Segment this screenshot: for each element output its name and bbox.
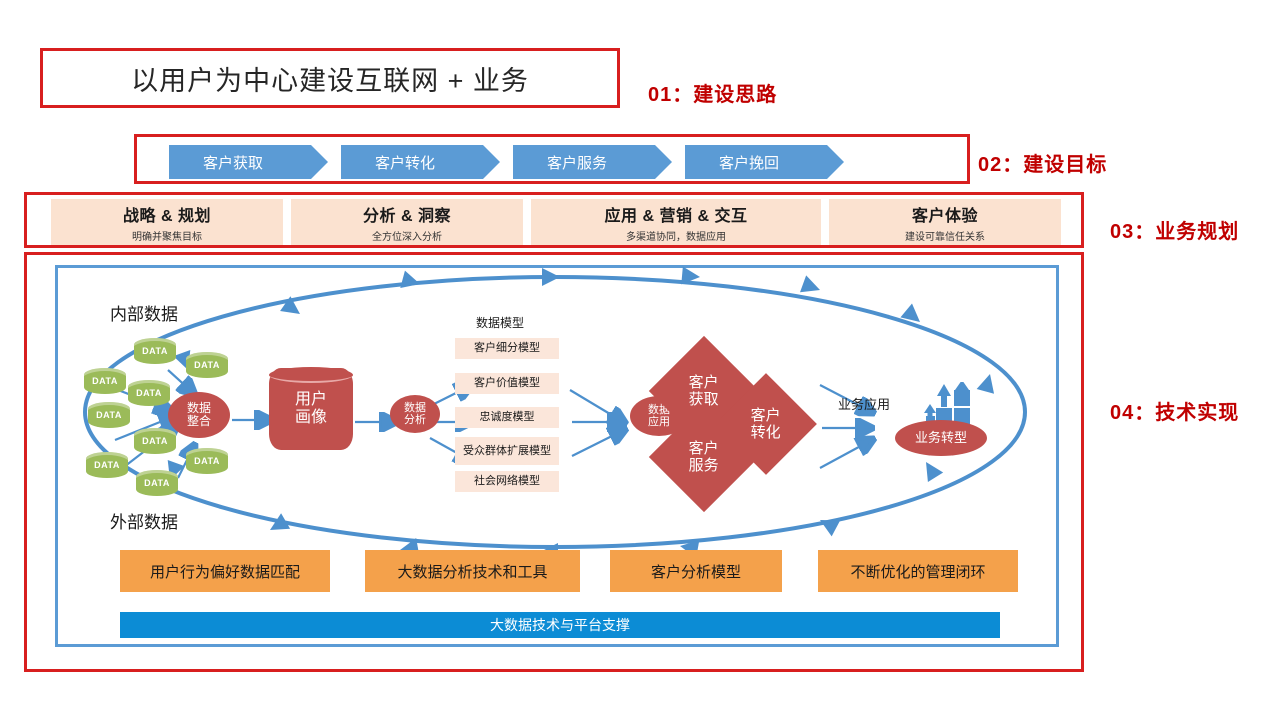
step-label-02: 02：建设目标 — [978, 148, 1107, 177]
chevron-item[interactable]: 客户服务 — [513, 145, 655, 179]
plan-sub: 明确并聚焦目标 — [132, 228, 202, 243]
model-item[interactable]: 客户价值模型 — [455, 373, 559, 394]
main-title-box: 以用户为中心建设互联网 + 业务 — [40, 48, 620, 108]
data-node-icon: DATA — [186, 352, 228, 378]
goal-label-3: 客户服务 — [513, 145, 655, 179]
data-node-icon: DATA — [86, 452, 128, 478]
business-plan-strip: 战略 & 规划 明确并聚焦目标 分析 & 洞察 全方位深入分析 应用 & 营销 … — [24, 192, 1084, 248]
business-application-label: 业务应用 — [838, 394, 890, 413]
plan-heading: 分析 & 洞察 — [363, 202, 451, 226]
plan-cell[interactable]: 战略 & 规划 明确并聚焦目标 — [51, 199, 283, 245]
data-integration-label: 数据 整合 — [187, 402, 211, 428]
plan-cell[interactable]: 分析 & 洞察 全方位深入分析 — [291, 199, 523, 245]
platform-support-bar: 大数据技术与平台支撑 — [120, 612, 1000, 638]
slide-canvas: 以用户为中心建设互联网 + 业务 01：建设思路 客户获取 客户转化 客户服务 … — [0, 0, 1280, 720]
internal-data-label: 内部数据 — [110, 300, 178, 325]
step-label-04: 04：技术实现 — [1110, 396, 1239, 425]
model-item[interactable]: 客户细分模型 — [455, 338, 559, 359]
diamond-label: 客户 服务 — [689, 440, 719, 473]
data-node-icon: DATA — [128, 380, 170, 406]
foundation-box[interactable]: 不断优化的管理闭环 — [818, 550, 1018, 592]
models-heading: 数据模型 — [476, 314, 524, 331]
data-analysis-node: 数据 分析 — [390, 395, 440, 433]
model-item[interactable]: 受众群体扩展模型 — [455, 437, 559, 465]
page-title: 以用户为中心建设互联网 + 业务 — [131, 59, 529, 98]
diamond-label: 客户 转化 — [751, 407, 781, 440]
model-item[interactable]: 忠诚度模型 — [455, 407, 559, 428]
step-label-03: 03：业务规划 — [1110, 215, 1239, 244]
chevron-item[interactable]: 客户挽回 — [685, 145, 827, 179]
plan-heading: 战略 & 规划 — [123, 202, 211, 226]
data-node-icon: DATA — [136, 470, 178, 496]
plan-cell[interactable]: 应用 & 营销 & 交互 多渠道协同，数据应用 — [531, 199, 821, 245]
user-portrait-label: 用户 画像 — [295, 391, 327, 428]
chevron-item[interactable]: 客户获取 — [169, 145, 311, 179]
plan-cell[interactable]: 客户体验 建设可靠信任关系 — [829, 199, 1061, 245]
data-node-icon: DATA — [88, 402, 130, 428]
plan-heading: 客户体验 — [912, 202, 978, 226]
user-portrait-node: 用户 画像 — [269, 368, 353, 450]
goal-label-1: 客户获取 — [169, 145, 311, 179]
business-transformation-node: 业务转型 — [895, 420, 987, 456]
foundation-box[interactable]: 用户行为偏好数据匹配 — [120, 550, 330, 592]
plan-sub: 全方位深入分析 — [372, 228, 442, 243]
business-transformation-label: 业务转型 — [915, 431, 967, 445]
goal-label-2: 客户转化 — [341, 145, 483, 179]
chevron-item[interactable]: 客户转化 — [341, 145, 483, 179]
model-item[interactable]: 社会网络模型 — [455, 471, 559, 492]
plan-sub: 多渠道协同，数据应用 — [626, 228, 726, 243]
data-node-icon: DATA — [134, 428, 176, 454]
external-data-label: 外部数据 — [110, 508, 178, 533]
data-analysis-label: 数据 分析 — [404, 402, 426, 426]
data-node-icon: DATA — [84, 368, 126, 394]
plan-heading: 应用 & 营销 & 交互 — [605, 202, 748, 226]
foundation-box[interactable]: 客户分析模型 — [610, 550, 782, 592]
plan-sub: 建设可靠信任关系 — [905, 228, 985, 243]
data-node-icon: DATA — [186, 448, 228, 474]
goal-chevron-box: 客户获取 客户转化 客户服务 客户挽回 — [134, 134, 970, 184]
step-label-01: 01：建设思路 — [648, 78, 777, 107]
data-integration-node: 数据 整合 — [168, 392, 230, 438]
data-node-icon: DATA — [134, 338, 176, 364]
foundation-box[interactable]: 大数据分析技术和工具 — [365, 550, 580, 592]
goal-label-4: 客户挽回 — [685, 145, 827, 179]
